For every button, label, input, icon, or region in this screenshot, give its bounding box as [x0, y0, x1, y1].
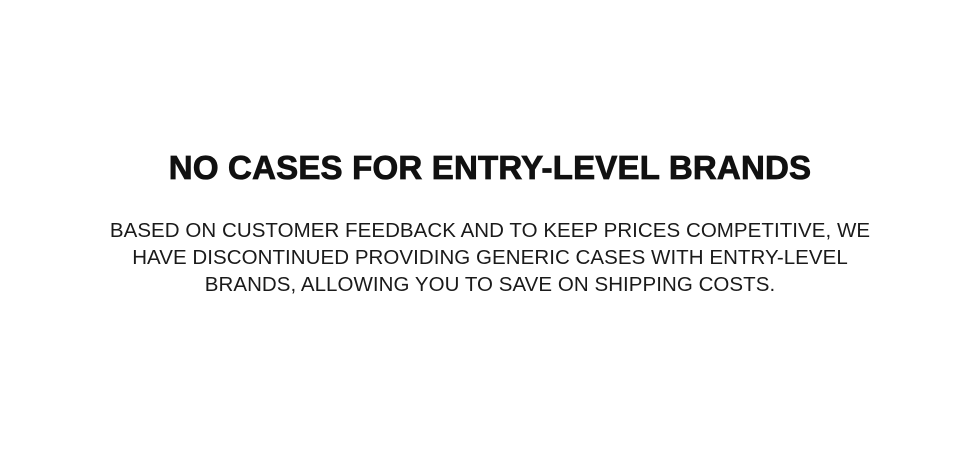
promo-heading: NO CASES FOR ENTRY-LEVEL BRANDS [40, 150, 940, 186]
promo-description: BASED ON CUSTOMER FEEDBACK AND TO KEEP P… [90, 186, 890, 298]
promo-content-container: NO CASES FOR ENTRY-LEVEL BRANDS BASED ON… [40, 150, 940, 298]
promo-banner-section: NO CASES FOR ENTRY-LEVEL BRANDS BASED ON… [0, 0, 980, 450]
